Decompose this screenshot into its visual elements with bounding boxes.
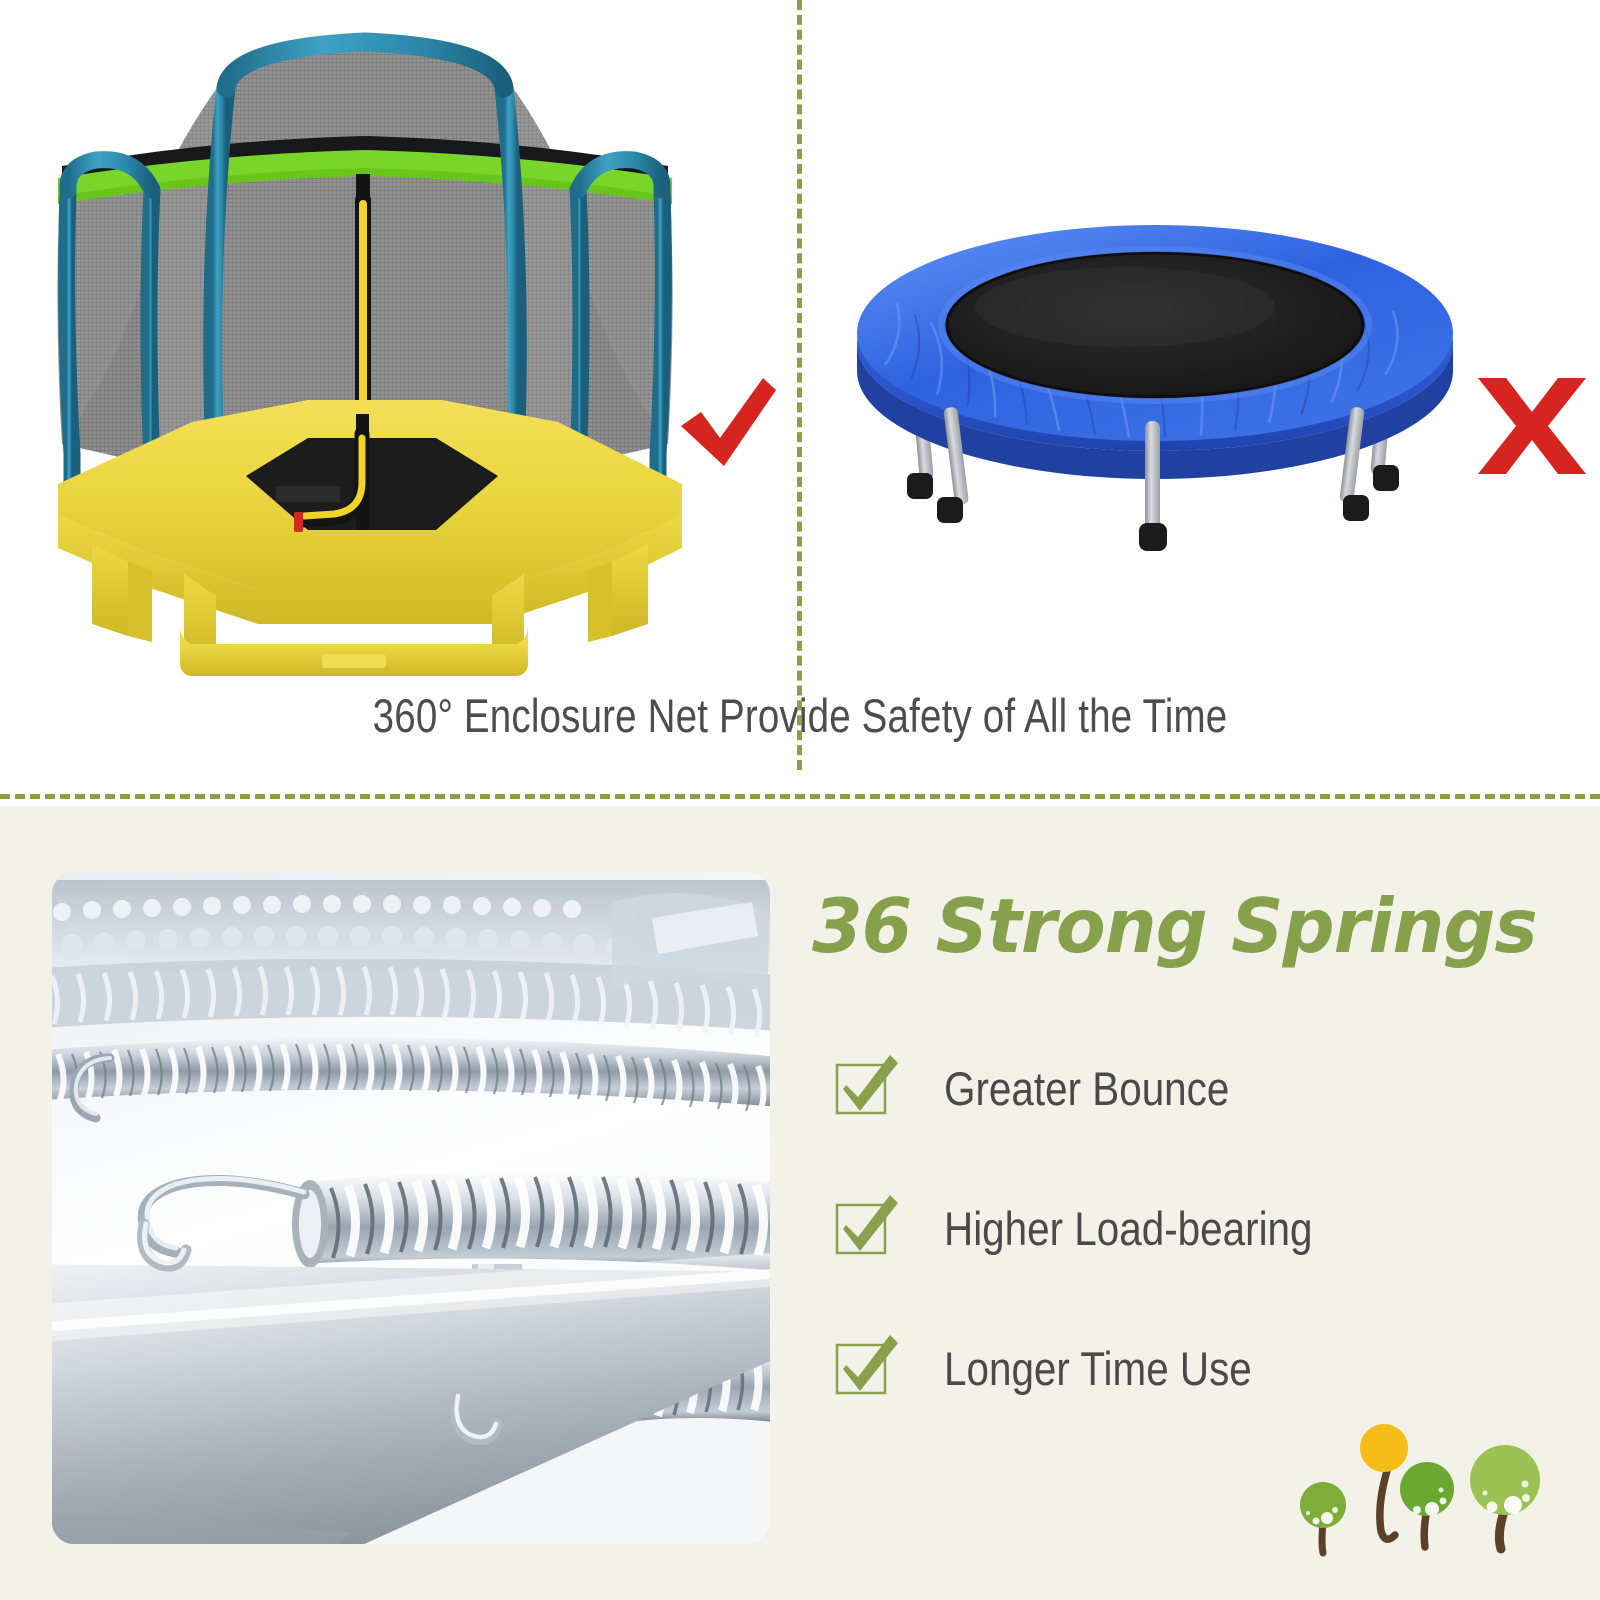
x-icon	[1472, 372, 1592, 477]
mini-trampoline-image	[845, 225, 1465, 555]
horizontal-dashed-divider	[0, 794, 1600, 799]
trees-decoration	[1245, 1405, 1595, 1595]
list-item: Greater Bounce	[834, 1052, 1554, 1124]
check-icon	[668, 368, 783, 478]
infographic-page: 360° Enclosure Net Provide Safety of All…	[0, 0, 1600, 1600]
list-item: Longer Time Use	[834, 1332, 1554, 1404]
feature-label: Longer Time Use	[944, 1341, 1252, 1396]
checkbox-checked-icon	[834, 1059, 892, 1117]
springs-closeup-photo	[52, 872, 770, 1544]
enclosure-trampoline-image	[40, 14, 690, 684]
feature-label: Higher Load-bearing	[944, 1201, 1313, 1256]
checkbox-checked-icon	[834, 1339, 892, 1397]
features-panel: 36 Strong Springs Greater Bounce	[812, 870, 1572, 1350]
checkbox-checked-icon	[834, 1199, 892, 1257]
feature-label: Greater Bounce	[944, 1061, 1229, 1116]
list-item: Higher Load-bearing	[834, 1192, 1554, 1264]
section-heading: 36 Strong Springs	[812, 882, 1549, 970]
vertical-dashed-divider	[797, 0, 802, 770]
